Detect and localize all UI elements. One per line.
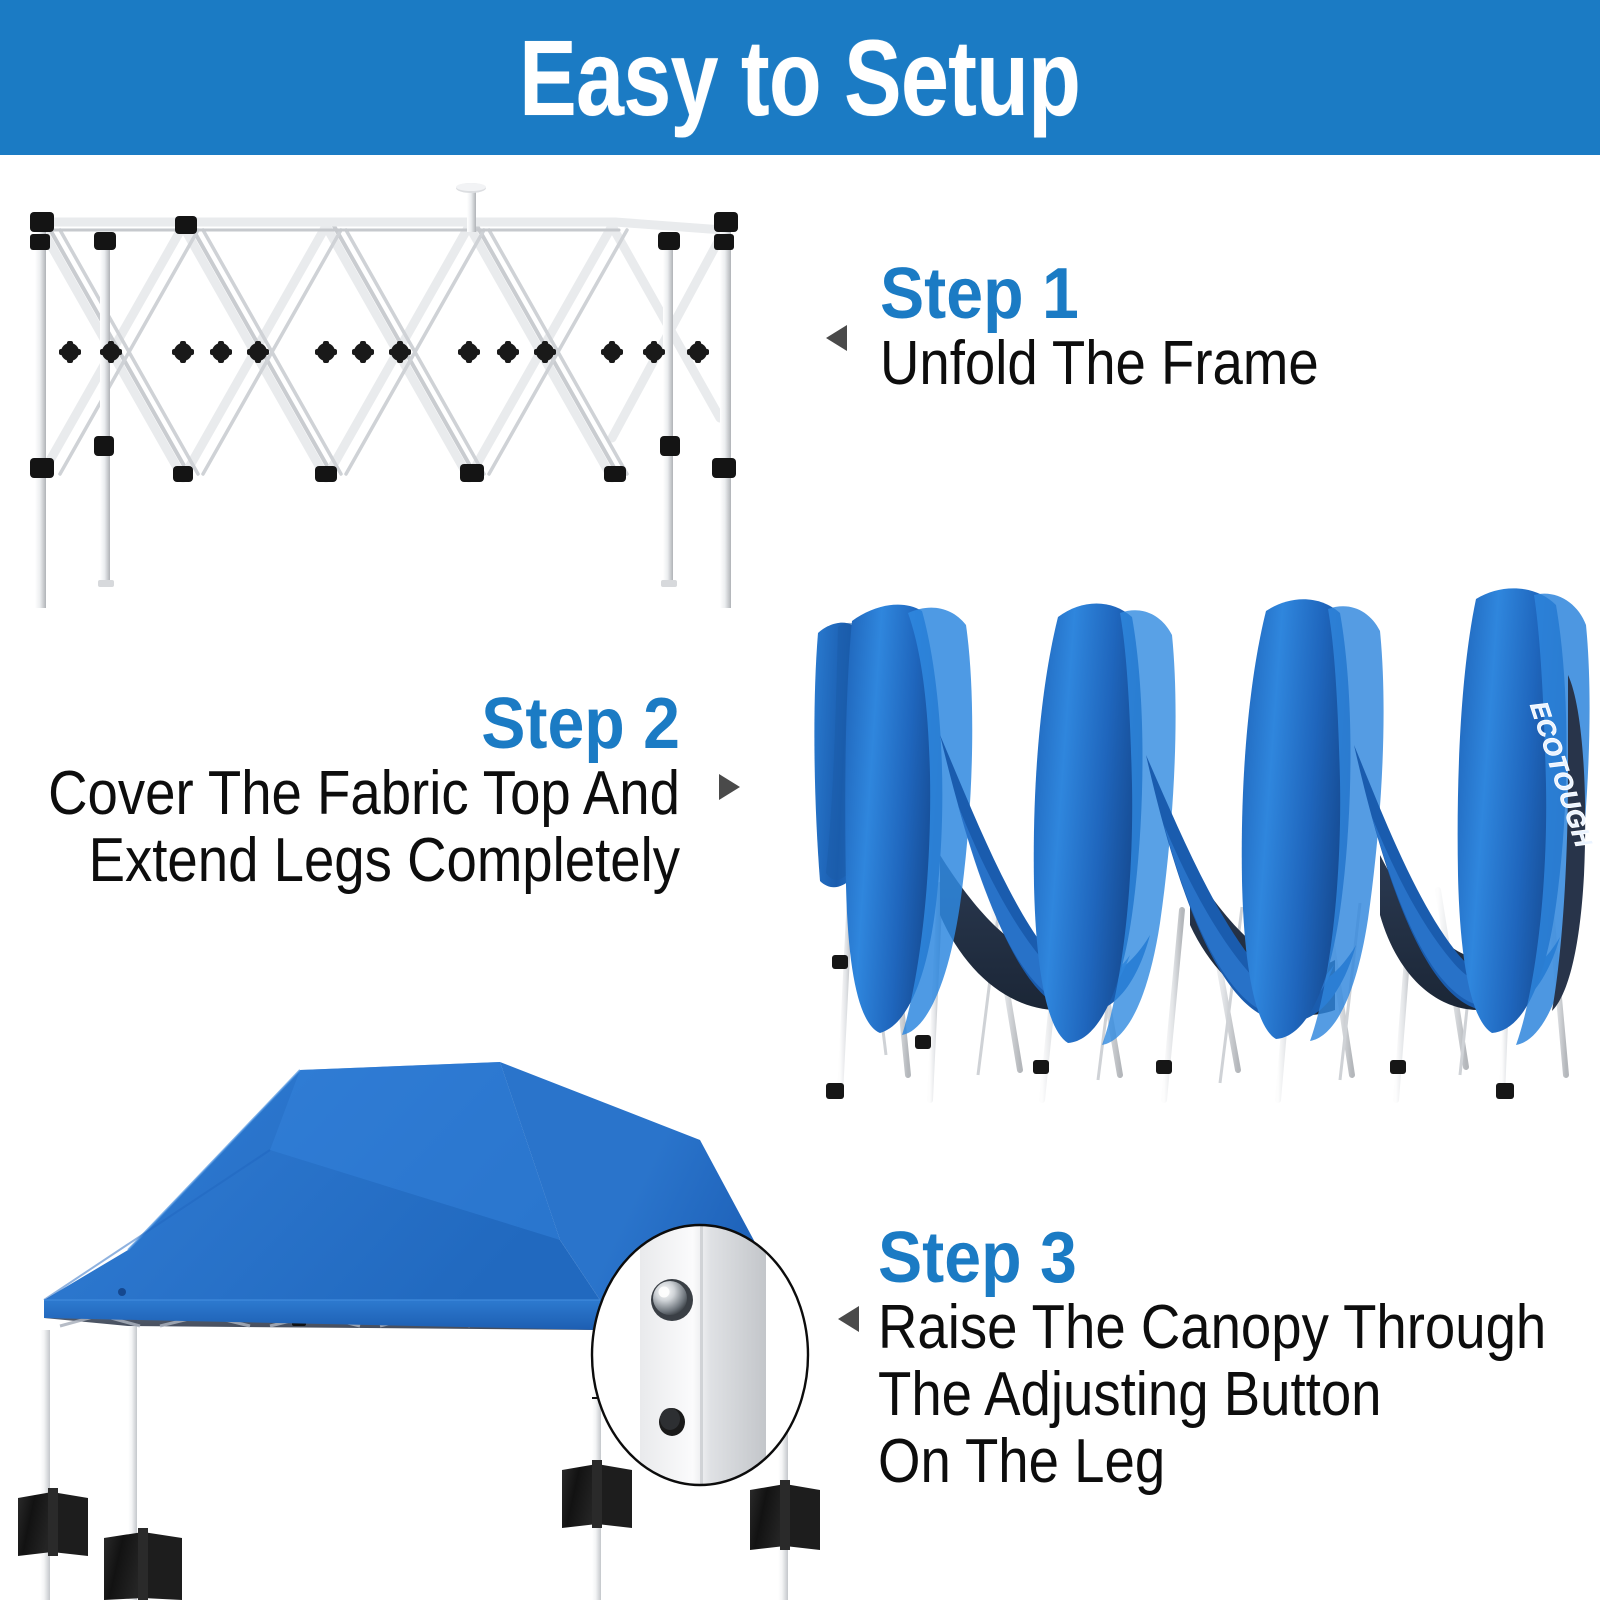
adjusting-button-callout xyxy=(592,1225,808,1485)
step2-heading: Step 2 xyxy=(19,688,680,761)
step2-fabric-image: ECOTOUGH xyxy=(790,555,1600,1115)
sandbag-weight xyxy=(18,1488,88,1556)
step3-body-line-2: The Adjusting Button xyxy=(878,1362,1546,1429)
step1-body: Unfold The Frame xyxy=(880,331,1319,398)
step2-pointer-arrow-icon xyxy=(719,774,740,800)
step3-pointer-arrow-icon xyxy=(838,1306,859,1332)
step3-body-line-1: Raise The Canopy Through xyxy=(878,1295,1546,1362)
step1-frame-image xyxy=(8,178,768,608)
step3-body-line-3: On The Leg xyxy=(878,1429,1546,1496)
infographic-page: Easy to Setup xyxy=(0,0,1600,1600)
step3-body: Raise The Canopy Through The Adjusting B… xyxy=(878,1295,1546,1496)
step2-body: Cover The Fabric Top And Extend Legs Com… xyxy=(48,761,680,895)
step3-canopy-image: ECOTOUGH xyxy=(0,1000,830,1600)
push-button-icon xyxy=(651,1279,693,1321)
step1-text-block: Step 1 Unfold The Frame xyxy=(880,258,1379,398)
step3-heading: Step 3 xyxy=(878,1222,1577,1295)
step2-text-block: Step 2 Cover The Fabric Top And Extend L… xyxy=(0,688,680,895)
header-banner: Easy to Setup xyxy=(0,0,1600,155)
step3-text-block: Step 3 Raise The Canopy Through The Adju… xyxy=(878,1222,1600,1496)
step1-body-line-1: Unfold The Frame xyxy=(880,331,1319,398)
step1-heading: Step 1 xyxy=(880,258,1339,331)
step2-body-line-2: Extend Legs Completely xyxy=(48,828,680,895)
step2-body-line-1: Cover The Fabric Top And xyxy=(48,761,680,828)
step1-pointer-arrow-icon xyxy=(826,325,847,351)
page-title: Easy to Setup xyxy=(520,24,1081,132)
